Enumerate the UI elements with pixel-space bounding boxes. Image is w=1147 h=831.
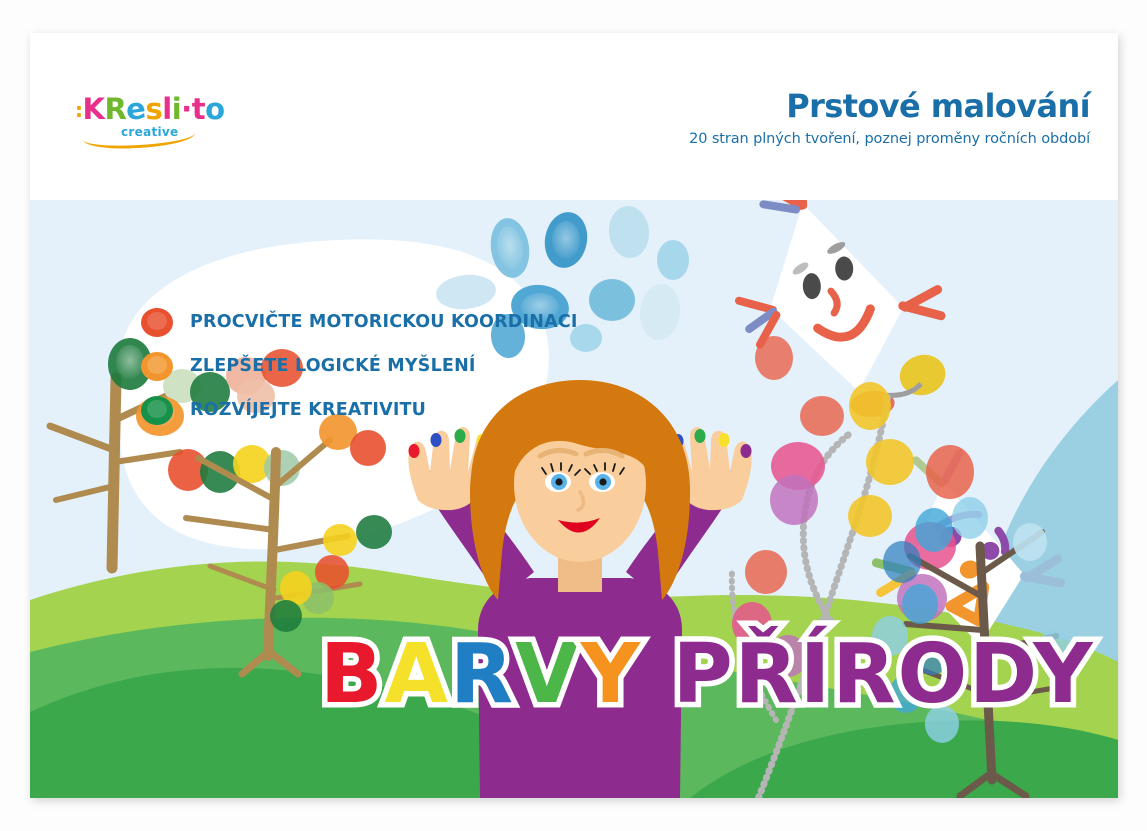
logo-letter-t: t xyxy=(192,95,205,124)
logo-letter-k: K xyxy=(83,95,105,124)
logo-letter-r: R xyxy=(104,95,126,124)
logo-dots-icon: : xyxy=(75,100,83,120)
benefit-label-1: ZLEPŠETE LOGICKÉ MYŠLENÍ xyxy=(190,356,476,376)
wordmark-letter-v: V xyxy=(515,634,580,716)
benefit-row-2: ROZVÍJEJTE KREATIVITU xyxy=(140,388,578,432)
header-band: :KResli·to creative Prstové malování 20 … xyxy=(30,33,1118,200)
logo-letter-o: o xyxy=(205,95,224,124)
logo-letter-l: l xyxy=(162,95,171,124)
benefit-row-0: PROCVIČTE MOTORICKOU KOORDINACI xyxy=(140,300,578,344)
benefit-label-2: ROZVÍJEJTE KREATIVITU xyxy=(190,400,426,420)
logo-swash-icon xyxy=(82,122,195,151)
cover-wordmark: BARVY PŘÍRODY xyxy=(320,634,1095,716)
wordmark-line: BARVY PŘÍRODY xyxy=(320,634,1095,716)
wordmark-letter-y: Y xyxy=(581,634,642,716)
fingerprint-dot-orange xyxy=(140,351,174,382)
fingerprint-dot-red xyxy=(140,307,174,338)
book-cover: PROCVIČTE MOTORICKOU KOORDINACI ZLEPŠETE… xyxy=(30,33,1118,798)
wordmark-letter-a: A xyxy=(385,634,450,716)
benefits-list: PROCVIČTE MOTORICKOU KOORDINACI ZLEPŠETE… xyxy=(140,300,578,432)
logo-middot-icon: · xyxy=(181,95,192,124)
page-subtitle: 20 stran plných tvoření, poznej proměny … xyxy=(689,131,1090,147)
logo-letter-i: i xyxy=(172,95,181,124)
screenshot-root: PROCVIČTE MOTORICKOU KOORDINACI ZLEPŠETE… xyxy=(0,0,1147,831)
page-title: Prstové malování xyxy=(689,89,1090,124)
logo-letter-e: e xyxy=(124,94,147,125)
wordmark-word-prirody: PŘÍRODY xyxy=(673,634,1095,716)
fingerprint-dot-green xyxy=(140,395,174,426)
brand-logo[interactable]: :KResli·to creative xyxy=(75,95,225,139)
header-titles: Prstové malování 20 stran plných tvoření… xyxy=(689,89,1090,147)
logo-letter-s: s xyxy=(146,95,163,124)
wordmark-letter-r: R xyxy=(450,634,515,716)
benefit-label-0: PROCVIČTE MOTORICKOU KOORDINACI xyxy=(190,312,578,332)
logo-wordmark: :KResli·to xyxy=(75,95,225,124)
benefit-row-1: ZLEPŠETE LOGICKÉ MYŠLENÍ xyxy=(140,344,578,388)
wordmark-letter-b: B xyxy=(320,634,385,716)
